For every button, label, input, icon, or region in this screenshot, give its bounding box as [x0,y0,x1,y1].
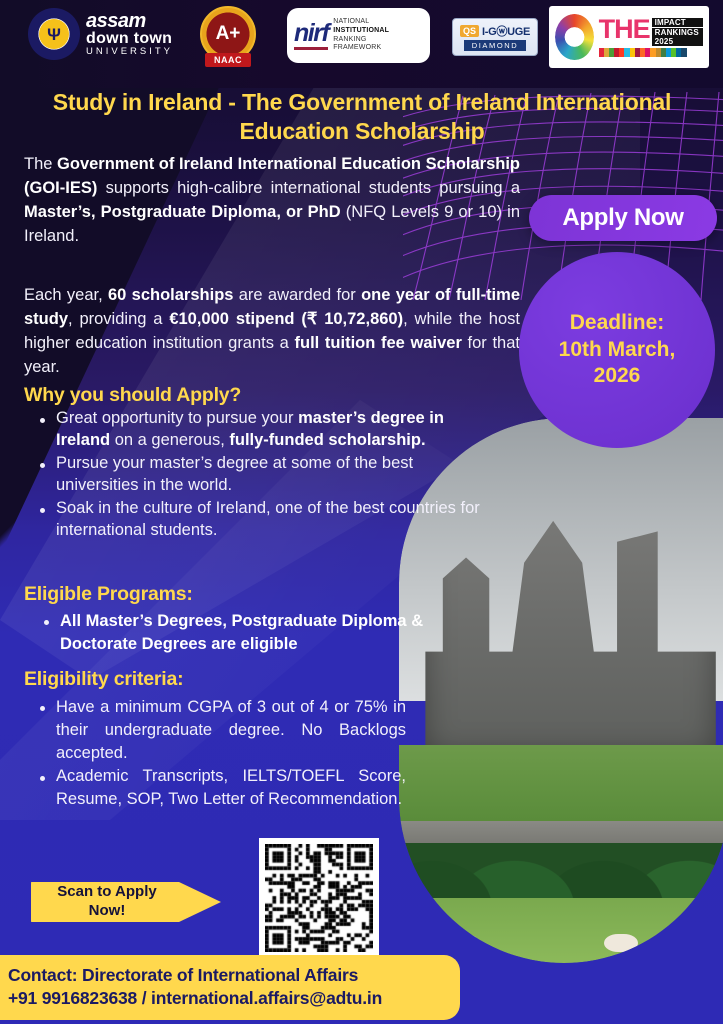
page-title: Study in Ireland - The Government of Ire… [24,88,700,145]
logo-qs-igauge-diamond: QS I-GⓦUGE DIAMOND [452,18,538,56]
sdg-color-bars [599,48,687,57]
igauge-diamond-band: DIAMOND [464,40,527,51]
nirf-full-name: NATIONAL INSTITUTIONAL RANKING FRAMEWORK [333,18,389,54]
the-hexagon-icon [555,14,594,60]
naac-ribbon-label: NAAC [205,53,251,67]
accreditation-logo-row: Ψ assam down town UNIVERSITY A+ NAAC nir… [0,0,723,88]
list-item: Have a minimum CGPA of 3 out of 4 or 75%… [36,696,406,764]
the-wordmark: THE [599,18,650,41]
list-item: Pursue your master’s degree at some of t… [36,453,496,497]
university-wordmark: assam down town UNIVERSITY [86,11,173,57]
logo-assam-down-town-university: Ψ assam down town UNIVERSITY [28,8,173,60]
eligibility-criteria-list: Have a minimum CGPA of 3 out of 4 or 75%… [36,696,406,812]
wordmark-line-1: assam [86,11,173,31]
list-item: Academic Transcripts, IELTS/TOEFL Score,… [36,765,406,811]
eligible-programs-list: All Master’s Degrees, Postgraduate Diplo… [40,610,460,657]
nirf-line-4: FRAMEWORK [333,44,389,53]
contact-bar: Contact: Directorate of International Af… [0,955,460,1020]
logo-naac-badge: A+ NAAC [200,6,256,62]
the-tag-impact: IMPACT [652,18,703,27]
photo-graveyard-lawn [399,745,723,832]
deadline-badge: Deadline: 10th March, 2026 [519,252,715,448]
list-item: All Master’s Degrees, Postgraduate Diplo… [40,610,460,656]
the-text-block: THE IMPACT RANKINGS 2025 [599,18,703,57]
igauge-title-row: QS I-GⓦUGE [460,23,530,39]
the-word-row: THE IMPACT RANKINGS 2025 [599,18,703,46]
naac-grade: A+ [216,23,241,45]
contact-line-1: Contact: Directorate of International Af… [8,964,446,987]
wordmark-line-2: down town [86,31,173,47]
list-item: Great opportunity to pursue your master’… [36,408,496,452]
contact-line-2: +91 9916823638 / international.affairs@a… [8,987,446,1010]
section-title-eligibility-criteria: Eligibility criteria: [24,668,183,691]
photo-sheep-right [604,934,638,952]
seal-flame-glyph: Ψ [39,19,69,49]
university-seal-icon: Ψ [28,8,80,60]
logo-nirf: nirf NATIONAL INSTITUTIONAL RANKING FRAM… [287,8,430,63]
stipend-paragraph: Each year, 60 scholarships are awarded f… [24,283,520,379]
wordmark-line-3: UNIVERSITY [86,47,173,57]
naac-seal-icon: A+ NAAC [200,6,256,62]
deadline-label: Deadline: [570,310,665,337]
section-title-why-apply: Why you should Apply? [24,384,241,407]
the-tag-stack: IMPACT RANKINGS 2025 [652,18,703,46]
intro-paragraph: The Government of Ireland International … [24,152,520,248]
qr-code-canvas [265,844,373,952]
the-tag-rankings-year: RANKINGS 2025 [652,28,703,46]
scan-cta-line-2: Now! [89,902,126,921]
scan-cta-line-1: Scan to Apply [57,883,156,902]
igauge-wordmark: I-GⓦUGE [482,23,530,39]
nirf-wordmark: nirf [294,21,328,50]
nirf-line-3: RANKING [333,36,389,45]
qs-badge: QS [460,25,479,37]
qr-code[interactable] [259,838,379,958]
nirf-line-1: NATIONAL [333,18,389,27]
deadline-date-line-1: 10th March, [559,337,676,364]
apply-now-button[interactable]: Apply Now [529,195,717,241]
nirf-line-2: INSTITUTIONAL [333,27,389,34]
photo-foreground-field [399,898,723,963]
why-apply-list: Great opportunity to pursue your master’… [36,408,496,543]
scan-to-apply-callout: Scan to Apply Now! [31,874,221,930]
logo-the-impact-rankings: THE IMPACT RANKINGS 2025 [549,6,709,68]
poster-root: Ψ assam down town UNIVERSITY A+ NAAC nir… [0,0,723,1024]
section-title-eligible-programs: Eligible Programs: [24,583,193,606]
deadline-date-line-2: 2026 [594,363,641,390]
list-item: Soak in the culture of Ireland, one of t… [36,498,496,542]
photo-sheep-left [445,934,479,952]
